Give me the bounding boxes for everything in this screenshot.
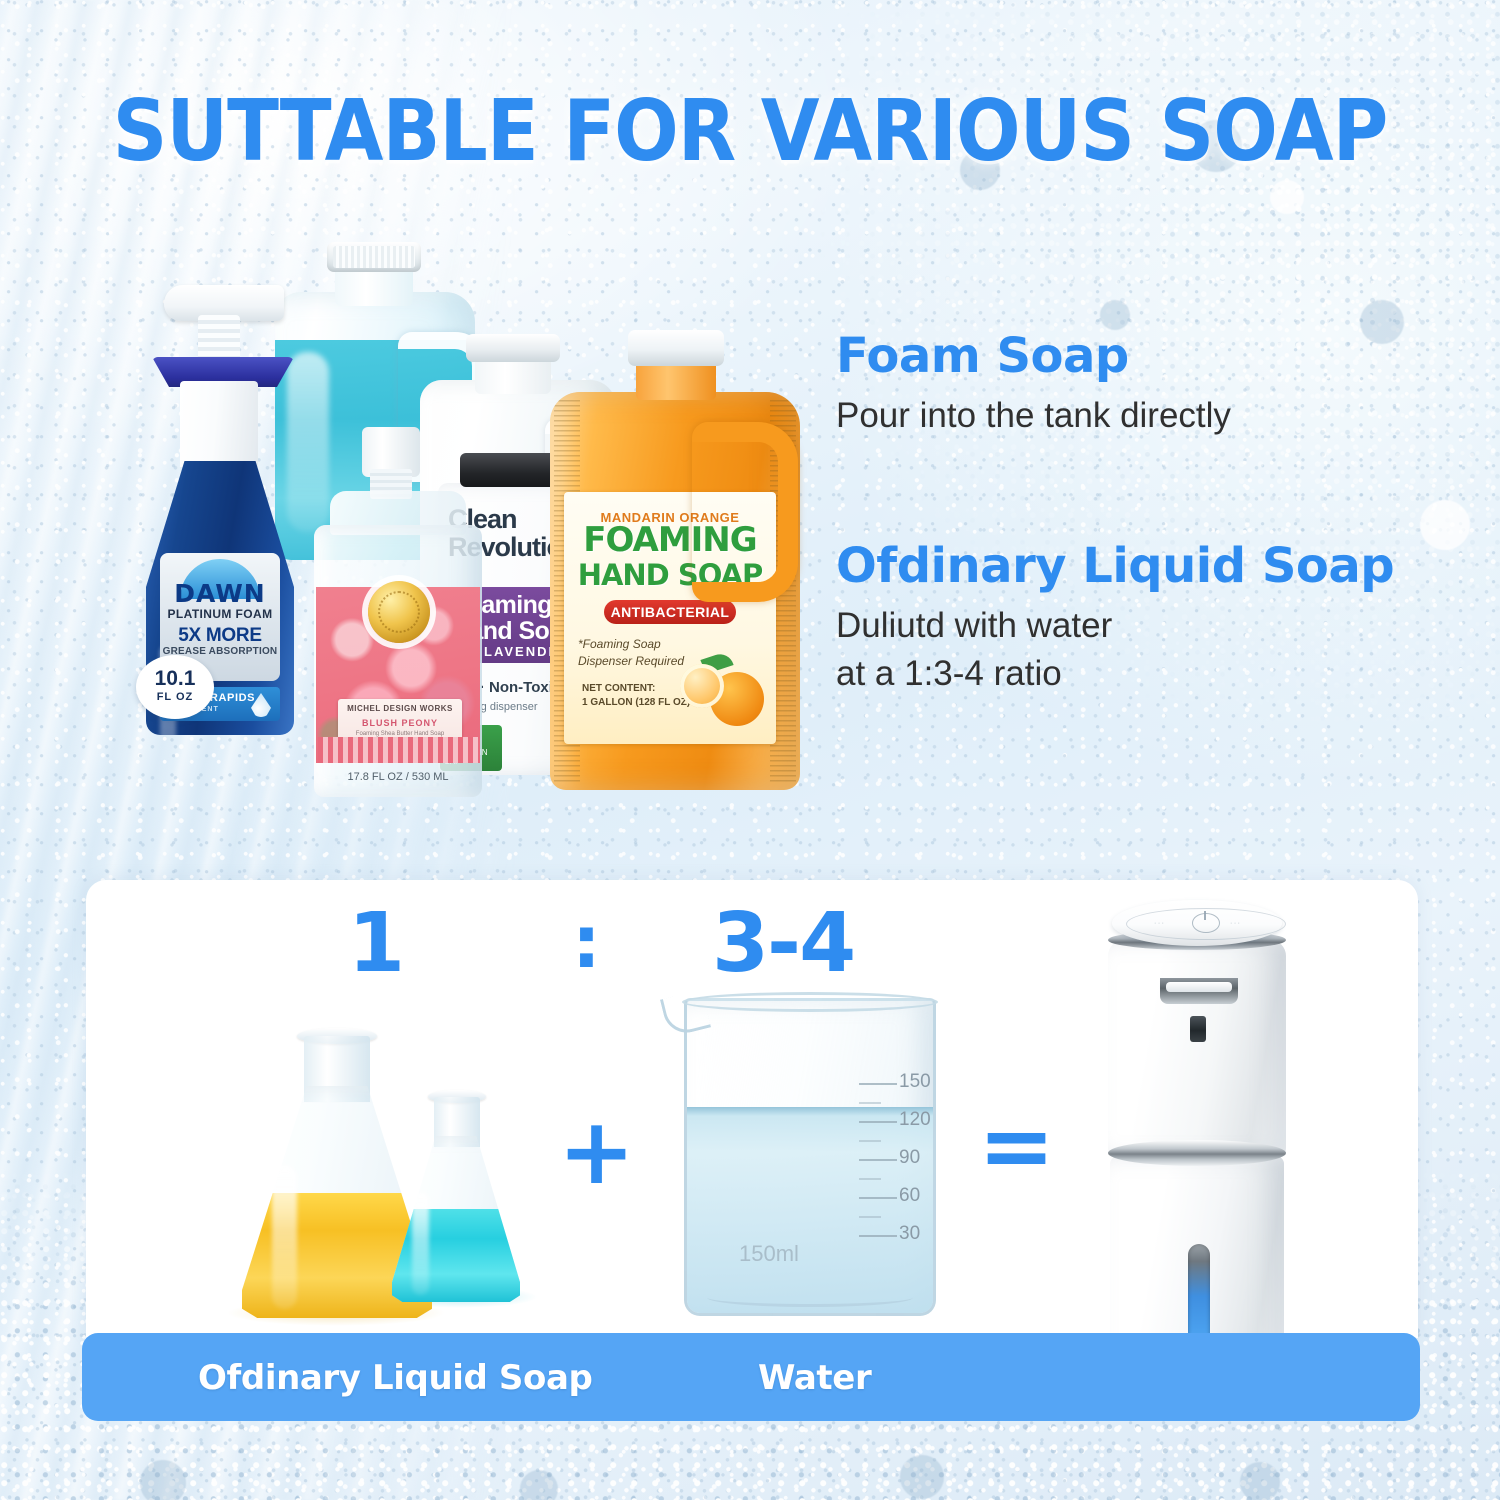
beaker-base: [707, 1288, 913, 1307]
jug-neck: [636, 360, 716, 400]
orange-requirement: *Foaming Soap Dispenser Required: [578, 636, 684, 670]
beaker-rim: [682, 992, 938, 1012]
beaker-glass: 150 120 90 60 30 150ml: [684, 998, 936, 1316]
beaker-minor-tick: [859, 1178, 881, 1180]
beaker-graduation-120: [859, 1121, 897, 1123]
beaker-graduation-label-60: 60: [899, 1185, 933, 1207]
page-title: SUTTABLE FOR VARIOUS SOAP: [0, 81, 1500, 181]
ratio-left-value: 1: [348, 896, 405, 991]
jug-handle: [692, 422, 798, 602]
info-block-foam-soap: Foam Soap Pour into the tank directly: [836, 330, 1231, 439]
requirement-line2: Dispenser Required: [578, 653, 684, 670]
floral-brand: MICHEL DESIGN WORKS: [338, 704, 462, 713]
indicator-dots-left: ···: [1154, 920, 1166, 927]
dispenser-nozzle-recess: [1160, 978, 1238, 1004]
beaker-graduation-label-30: 30: [899, 1223, 933, 1245]
dispenser-upper-body: [1108, 940, 1286, 1158]
bubble-blob: [1420, 500, 1470, 550]
bubble-blob: [900, 1455, 944, 1499]
equals-operator-icon: =: [978, 1092, 1055, 1199]
flask-liquid-secondary: [392, 1209, 520, 1302]
power-button-icon[interactable]: [1192, 913, 1220, 933]
ordinary-soap-heading: Ofdinary Liquid Soap: [836, 540, 1394, 593]
indicator-dots-right: ···: [1230, 920, 1242, 927]
dawn-line-label: PLATINUM FOAM: [160, 607, 280, 621]
dawn-volume-badge: 10.1 FL OZ: [136, 655, 214, 719]
dawn-platinum-foam-bottle: DAWN PLATINUM FOAM 5X MORE GREASE ABSORP…: [140, 285, 298, 735]
beaker-minor-tick: [859, 1102, 881, 1104]
legend-label-soap: Ofdinary Liquid Soap: [198, 1358, 592, 1398]
erlenmeyer-flask-secondary: [392, 1090, 520, 1302]
floral-variant: BLUSH PEONY: [338, 718, 462, 728]
legend-label-water: Water: [758, 1358, 871, 1398]
beaker-graduation-30: [859, 1235, 897, 1237]
beaker-graduation-label-90: 90: [899, 1147, 933, 1169]
flask-highlight: [412, 1192, 429, 1295]
floral-border-pattern: [318, 737, 478, 763]
dispenser-chrome-band: [1108, 1140, 1286, 1166]
measuring-beaker: 150 120 90 60 30 150ml: [676, 990, 938, 1310]
bubble-blob: [1100, 300, 1130, 330]
bubble-blob: [1240, 1462, 1280, 1500]
ratio-right-value: 3-4: [712, 896, 854, 991]
beaker-capacity-label: 150ml: [739, 1241, 799, 1267]
product-bottle-cluster: Clean Revolution Foaming Hand Soap LAVEN…: [120, 215, 820, 815]
beaker-graduation-150: [859, 1083, 897, 1085]
dawn-volume-number: 10.1: [136, 667, 214, 691]
jug-cap: [628, 330, 724, 366]
dawn-brand-label: DAWN: [160, 579, 280, 608]
foam-soap-heading: Foam Soap: [836, 330, 1231, 383]
dawn-volume-unit: FL OZ: [136, 691, 214, 703]
mandarin-orange-foaming-soap-jug: MANDARIN ORANGE FOAMING HAND SOAP ANTIBA…: [550, 330, 800, 790]
dispenser-top-cap[interactable]: ··· ···: [1112, 900, 1282, 946]
ratio-colon: :: [572, 900, 601, 984]
jug-cap: [466, 334, 560, 362]
dawn-claim-label: 5X MORE: [160, 625, 280, 647]
info-block-ordinary-liquid-soap: Ofdinary Liquid Soap Duliutd with water …: [836, 540, 1394, 697]
flask-highlight: [272, 1165, 297, 1309]
beaker-water: [687, 1107, 933, 1313]
bubble-blob: [1270, 180, 1304, 214]
requirement-line1: *Foaming Soap: [578, 636, 684, 653]
plus-operator-icon: +: [558, 1098, 635, 1205]
bubble-blob: [520, 1470, 558, 1500]
pump-stem: [198, 315, 240, 363]
net-line2: 1 GALLON (128 FL OZ): [582, 696, 690, 710]
floral-foaming-soap-bottle: MICHEL DESIGN WORKS BLUSH PEONY Foaming …: [308, 473, 488, 803]
orange-slice-icon: [680, 664, 724, 708]
bottle-body: MICHEL DESIGN WORKS BLUSH PEONY Foaming …: [314, 525, 482, 797]
flask-cone: [392, 1136, 520, 1302]
bubble-blob: [1360, 300, 1404, 344]
jug-cap: [327, 242, 421, 272]
floral-label: MICHEL DESIGN WORKS BLUSH PEONY Foaming …: [316, 587, 480, 763]
net-line1: NET CONTENT:: [582, 682, 690, 696]
bubble-blob: [140, 1460, 186, 1500]
beaker-minor-tick: [859, 1216, 881, 1218]
bottle-neck: [180, 381, 258, 467]
floral-volume-label: 17.8 FL OZ / 530 ML: [314, 771, 482, 783]
beaker-graduation-label-120: 120: [899, 1109, 933, 1131]
infrared-sensor-icon: [1190, 1016, 1206, 1042]
antibacterial-badge: ANTIBACTERIAL: [604, 600, 736, 624]
ordinary-soap-description-line1: Duliutd with water: [836, 603, 1394, 649]
beaker-graduation-label-150: 150: [899, 1071, 933, 1093]
infographic-root: SUTTABLE FOR VARIOUS SOAP Foam Soap Pour…: [0, 0, 1500, 1500]
antibacterial-badge-label: ANTIBACTERIAL: [604, 604, 736, 620]
beaker-graduation-90: [859, 1159, 897, 1161]
foam-soap-description: Pour into the tank directly: [836, 393, 1231, 439]
gold-seal-icon: [368, 581, 430, 643]
orange-net-content: NET CONTENT: 1 GALLON (128 FL OZ): [582, 682, 690, 710]
water-surface: [687, 1107, 933, 1116]
beaker-graduation-60: [859, 1197, 897, 1199]
automatic-soap-dispenser: ··· ···: [1104, 900, 1290, 1380]
ordinary-soap-description-line2: at a 1:3-4 ratio: [836, 651, 1394, 697]
beaker-minor-tick: [859, 1140, 881, 1142]
